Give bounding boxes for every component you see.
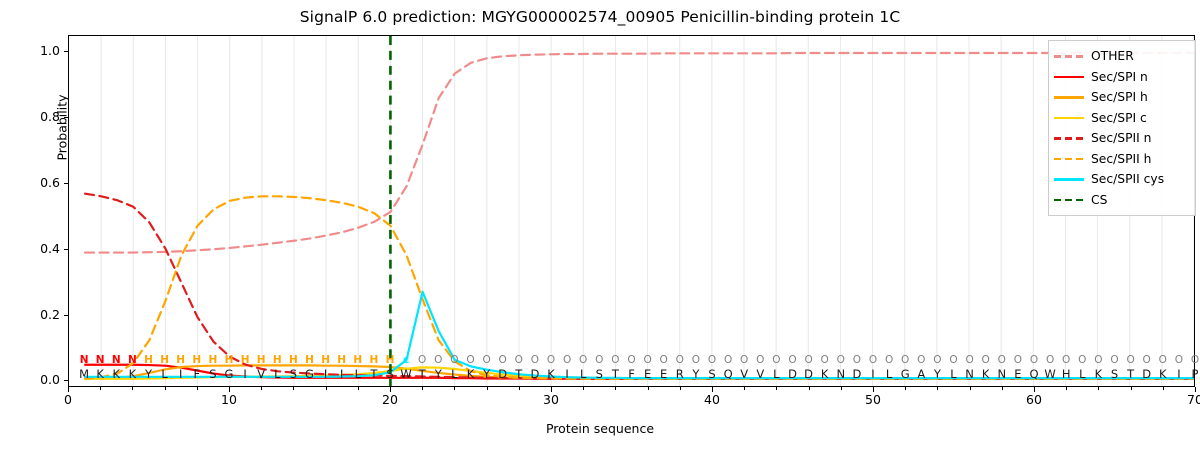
residue-letter: G — [225, 368, 234, 380]
legend-item-sec-spi-h[interactable]: Sec/SPI h — [1054, 87, 1189, 108]
residue-region-marker: O — [563, 354, 571, 366]
y-axis-tick-mark — [64, 51, 69, 52]
y-axis-tick-label: 0.6 — [14, 175, 60, 190]
legend-item-label: Sec/SPII n — [1091, 131, 1151, 145]
residue-letter: R — [676, 368, 684, 380]
residue-region-marker: O — [579, 354, 587, 366]
y-axis-tick-label: 0.8 — [14, 109, 60, 124]
residue-letter: D — [804, 368, 813, 380]
residue-letter: V — [740, 368, 748, 380]
legend-item-sec-spii-h[interactable]: Sec/SPII h — [1054, 149, 1189, 170]
series-line-other — [85, 53, 1194, 253]
residue-letter: G — [305, 368, 314, 380]
residue-letter: Y — [483, 368, 490, 380]
residue-region-marker: O — [434, 354, 442, 366]
legend-line-swatch — [1054, 153, 1084, 164]
residue-region-marker: O — [627, 354, 635, 366]
residue-letter: F — [628, 368, 635, 380]
residue-region-marker: O — [949, 354, 957, 366]
residue-region-marker: H — [273, 354, 282, 366]
y-axis-tick-mark — [64, 183, 69, 184]
residue-letter: E — [660, 368, 667, 380]
residue-letter: K — [96, 368, 104, 380]
residue-letter: D — [852, 368, 861, 380]
legend-item-label: Sec/SPI n — [1091, 70, 1148, 84]
residue-region-marker: O — [499, 354, 507, 366]
residue-letter: K — [982, 368, 990, 380]
residue-letter: L — [886, 368, 892, 380]
residue-letter: D — [530, 368, 539, 380]
residue-letter: S — [290, 368, 297, 380]
residue-region-marker: O — [965, 354, 973, 366]
residue-region-marker: O — [1175, 354, 1183, 366]
residue-letter: Q — [1029, 368, 1038, 380]
residue-region-marker: O — [547, 354, 555, 366]
residue-region-marker: H — [321, 354, 330, 366]
legend-item-cs[interactable]: CS — [1054, 190, 1189, 211]
x-axis-tick-label: 20 — [370, 392, 410, 407]
residue-region-marker: O — [1046, 354, 1054, 366]
residue-letter: L — [355, 368, 361, 380]
residue-letter: K — [821, 368, 829, 380]
residue-letter: A — [917, 368, 925, 380]
legend-item-sec-spii-cys[interactable]: Sec/SPII cys — [1054, 169, 1189, 190]
residue-region-marker: O — [756, 354, 764, 366]
residue-region-marker: H — [192, 354, 201, 366]
legend-item-sec-spi-n[interactable]: Sec/SPI n — [1054, 67, 1189, 88]
residue-letter: V — [756, 368, 764, 380]
residue-letter: V — [257, 368, 265, 380]
residue-region-marker: N — [112, 354, 121, 366]
residue-letter: T — [1127, 368, 1134, 380]
residue-letter: D — [498, 368, 507, 380]
residue-region-marker: O — [708, 354, 716, 366]
legend-line-swatch — [1054, 71, 1084, 82]
residue-letter: I — [871, 368, 874, 380]
x-axis-tick-mark — [1195, 387, 1196, 392]
legend-line-swatch — [1054, 92, 1084, 103]
residue-letter: L — [580, 368, 586, 380]
residue-letter: L — [274, 368, 280, 380]
residue-region-marker: H — [353, 354, 362, 366]
residue-letter: Y — [435, 368, 442, 380]
legend-item-label: Sec/SPII cys — [1091, 172, 1164, 186]
residue-region-marker: H — [144, 354, 153, 366]
residue-letter: N — [836, 368, 845, 380]
y-axis-tick-mark — [64, 315, 69, 316]
signalp-prediction-figure: SignalP 6.0 prediction: MGYG000002574_00… — [0, 0, 1200, 450]
legend-line-swatch — [1054, 194, 1084, 205]
residue-letter: G — [901, 368, 910, 380]
residue-region-marker: O — [1159, 354, 1167, 366]
legend-line-swatch — [1054, 133, 1084, 144]
residue-letter: I — [340, 368, 343, 380]
residue-letter: K — [467, 368, 475, 380]
residue-region-marker: N — [128, 354, 137, 366]
residue-letter: M — [79, 368, 89, 380]
residue-region-marker: O — [982, 354, 990, 366]
legend-line-swatch — [1054, 51, 1084, 62]
residue-letter: K — [1095, 368, 1103, 380]
y-axis-tick-mark — [64, 117, 69, 118]
residue-letter: W — [1044, 368, 1055, 380]
residue-letter: I — [243, 368, 246, 380]
plot-svg — [69, 36, 1194, 386]
residue-region-marker: O — [1126, 354, 1134, 366]
residue-region-marker: O — [1110, 354, 1118, 366]
residue-letter: Y — [145, 368, 152, 380]
residue-region-marker: H — [369, 354, 378, 366]
legend-item-sec-spi-c[interactable]: Sec/SPI c — [1054, 108, 1189, 129]
legend-item-other[interactable]: OTHER — [1054, 46, 1189, 67]
residue-region-marker: O — [998, 354, 1006, 366]
x-axis-tick-label: 0 — [48, 392, 88, 407]
residue-region-marker: O — [1143, 354, 1151, 366]
residue-letter: T — [515, 368, 522, 380]
residue-letter: L — [451, 368, 457, 380]
residue-letter: L — [1079, 368, 1085, 380]
residue-region-marker: O — [676, 354, 684, 366]
residue-letter: P — [1192, 368, 1199, 380]
legend-line-swatch — [1054, 112, 1084, 123]
residue-letter: S — [1111, 368, 1118, 380]
residue-region-marker: O — [643, 354, 651, 366]
legend-item-label: Sec/SPI c — [1091, 111, 1147, 125]
residue-region-marker: O — [724, 354, 732, 366]
residue-region-marker: N — [80, 354, 89, 366]
x-axis-tick-label: 50 — [853, 392, 893, 407]
x-axis-tick-label: 60 — [1014, 392, 1054, 407]
residue-letter: Q — [724, 368, 733, 380]
residue-region-marker: O — [660, 354, 668, 366]
residue-region-marker: O — [1014, 354, 1022, 366]
legend-line-swatch — [1054, 174, 1084, 185]
legend-item-sec-spii-n[interactable]: Sec/SPII n — [1054, 128, 1189, 149]
residue-region-marker: O — [466, 354, 474, 366]
residue-letter: K — [547, 368, 555, 380]
residue-region-marker: O — [821, 354, 829, 366]
residue-letter: L — [950, 368, 956, 380]
residue-region-marker: O — [595, 354, 603, 366]
residue-letter: K — [1159, 368, 1167, 380]
residue-letter: N — [997, 368, 1006, 380]
residue-region-marker: O — [1078, 354, 1086, 366]
chart-title: SignalP 6.0 prediction: MGYG000002574_00… — [0, 8, 1200, 26]
residue-letter: I — [179, 368, 182, 380]
y-axis-tick-label: 0.4 — [14, 241, 60, 256]
residue-region-marker: O — [482, 354, 490, 366]
residue-region-marker: O — [788, 354, 796, 366]
residue-letter: E — [644, 368, 651, 380]
residue-letter: S — [708, 368, 715, 380]
x-axis-tick-label: 30 — [531, 392, 571, 407]
residue-letter: T — [612, 368, 619, 380]
residue-letter: S — [596, 368, 603, 380]
residue-letter: L — [161, 368, 167, 380]
residue-region-marker: H — [257, 354, 266, 366]
residue-region-marker: H — [305, 354, 314, 366]
y-axis-tick-label: 1.0 — [14, 43, 60, 58]
residue-region-marker: O — [1030, 354, 1038, 366]
legend: OTHERSec/SPI nSec/SPI hSec/SPI cSec/SPII… — [1048, 40, 1196, 216]
plot-area — [68, 35, 1195, 387]
residue-letter: N — [965, 368, 974, 380]
residue-region-marker: O — [917, 354, 925, 366]
x-axis-tick-label: 40 — [692, 392, 732, 407]
residue-letter: T — [419, 368, 426, 380]
legend-item-label: CS — [1091, 193, 1107, 207]
residue-letter: S — [209, 368, 216, 380]
x-axis-tick-label: 70 — [1175, 392, 1200, 407]
residue-region-marker: O — [418, 354, 426, 366]
x-axis-tick-label: 10 — [209, 392, 249, 407]
residue-region-marker: H — [176, 354, 185, 366]
residue-region-marker: O — [933, 354, 941, 366]
legend-item-label: Sec/SPII h — [1091, 152, 1151, 166]
residue-letter: H — [1062, 368, 1071, 380]
residue-region-marker: H — [225, 354, 234, 366]
residue-region-marker: N — [96, 354, 105, 366]
residue-letter: E — [1014, 368, 1021, 380]
residue-region-marker: O — [837, 354, 845, 366]
residue-region-marker: H — [241, 354, 250, 366]
residue-region-marker: O — [901, 354, 909, 366]
y-axis-tick-label: 0.2 — [14, 307, 60, 322]
residue-region-marker: O — [740, 354, 748, 366]
residue-region-marker: O — [515, 354, 523, 366]
residue-region-marker: H — [386, 354, 395, 366]
residue-letter: D — [1142, 368, 1151, 380]
residue-region-marker: O — [885, 354, 893, 366]
residue-region-marker: O — [853, 354, 861, 366]
residue-letter: Y — [934, 368, 941, 380]
residue-region-marker: H — [337, 354, 346, 366]
residue-region-marker: O — [772, 354, 780, 366]
residue-region-marker: H — [289, 354, 298, 366]
residue-letter: W — [400, 368, 411, 380]
y-axis-tick-label: 0.0 — [14, 372, 60, 387]
residue-region-marker: O — [1094, 354, 1102, 366]
residue-region-marker: O — [692, 354, 700, 366]
y-axis-tick-mark — [64, 249, 69, 250]
residue-letter: I — [1177, 368, 1180, 380]
residue-region-marker: H — [160, 354, 169, 366]
residue-letter: K — [129, 368, 137, 380]
legend-item-label: OTHER — [1091, 49, 1134, 63]
residue-letter: S — [386, 368, 393, 380]
residue-annotation-row: NMNKNKNKHYHLHIHFHSHGHIHVHLHSHGHIHIHLHTHS… — [68, 352, 1195, 392]
residue-region-marker: O — [1191, 354, 1199, 366]
x-axis-label: Protein sequence — [0, 421, 1200, 436]
residue-region-marker: c — [403, 354, 409, 366]
residue-letter: T — [370, 368, 377, 380]
residue-letter: L — [773, 368, 779, 380]
residue-letter: I — [324, 368, 327, 380]
residue-region-marker: O — [611, 354, 619, 366]
residue-region-marker: O — [1062, 354, 1070, 366]
residue-region-marker: O — [531, 354, 539, 366]
residue-letter: Y — [692, 368, 699, 380]
residue-letter: F — [193, 368, 200, 380]
residue-region-marker: O — [869, 354, 877, 366]
residue-letter: I — [565, 368, 568, 380]
residue-region-marker: O — [450, 354, 458, 366]
residue-letter: K — [113, 368, 121, 380]
residue-region-marker: O — [804, 354, 812, 366]
legend-item-label: Sec/SPI h — [1091, 90, 1148, 104]
residue-letter: D — [788, 368, 797, 380]
residue-region-marker: H — [208, 354, 217, 366]
